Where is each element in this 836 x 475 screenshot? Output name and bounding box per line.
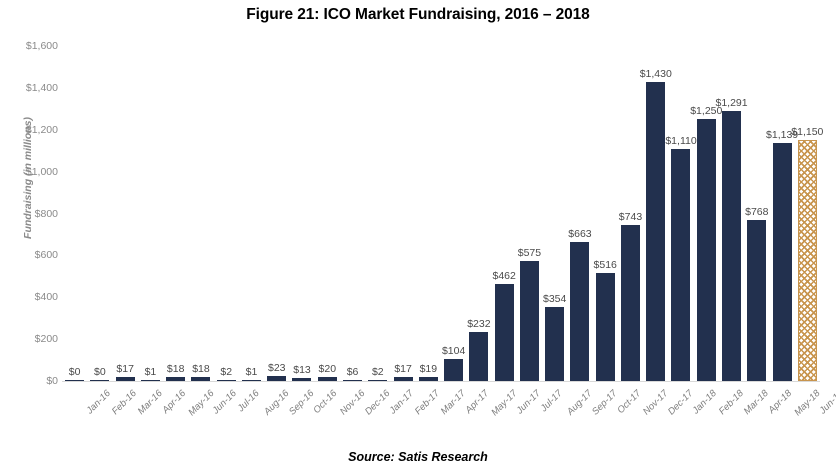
bar-slot: $13 — [289, 46, 314, 381]
bar-slot: $575 — [517, 46, 542, 381]
bar-slot: $1 — [138, 46, 163, 381]
bar[interactable] — [646, 82, 665, 381]
y-axis-tick-label: $600 — [2, 249, 58, 261]
x-axis-tick-label: Mar-17 — [416, 383, 441, 401]
bar[interactable] — [697, 119, 716, 381]
bar-slot: $1 — [239, 46, 264, 381]
x-axis-tick-label: Sep-16 — [264, 383, 289, 401]
bar-slot: $1,150 — [795, 46, 820, 381]
x-axis-tick-label: Jan-17 — [365, 383, 390, 401]
x-axis-tick-labels: Jan-16Feb-16Mar-16Apr-16May-16Jun-16Jul-… — [62, 383, 820, 443]
y-axis-tick-labels: $0$200$400$600$800$1,000$1,200$1,400$1,6… — [0, 0, 58, 475]
bar[interactable] — [495, 284, 514, 381]
bar-value-label: $0 — [69, 366, 81, 378]
bar-slot: $18 — [163, 46, 188, 381]
bar-slot: $19 — [416, 46, 441, 381]
y-axis-tick-label: $0 — [2, 375, 58, 387]
bar-value-label: $18 — [192, 363, 210, 375]
x-axis-tick-label: Dec-17 — [643, 383, 668, 401]
y-axis-tick-label: $1,000 — [2, 166, 58, 178]
bar-value-label: $17 — [394, 363, 412, 375]
x-axis-tick-label: Mar-18 — [719, 383, 744, 401]
y-axis-tick-label: $1,400 — [2, 82, 58, 94]
bar[interactable] — [469, 332, 488, 381]
x-axis-tick-label: Feb-17 — [390, 383, 415, 401]
y-axis-tick-label: $1,200 — [2, 124, 58, 136]
bar-slot: $1,430 — [643, 46, 668, 381]
bar-value-label: $20 — [319, 363, 337, 375]
y-axis-tick-label: $200 — [2, 333, 58, 345]
bar-slot: $18 — [188, 46, 213, 381]
bar-slot: $23 — [264, 46, 289, 381]
bar-value-label: $13 — [293, 364, 311, 376]
source-note: Source: Satis Research — [0, 450, 836, 464]
x-axis-tick-label: Nov-17 — [618, 383, 643, 401]
x-axis-tick-label: Jan-18 — [668, 383, 693, 401]
x-axis-tick-label: Apr-17 — [441, 383, 466, 401]
bar-value-label: $516 — [594, 259, 617, 271]
bar-value-label: $663 — [568, 228, 591, 240]
x-axis-tick-label: Feb-18 — [694, 383, 719, 401]
x-axis-tick-label: Jul-16 — [214, 383, 239, 401]
bar[interactable] — [444, 359, 463, 381]
bar-value-label: $1,110 — [665, 135, 696, 147]
x-axis-tick-label: May-16 — [163, 383, 188, 401]
bar-slot: $17 — [390, 46, 415, 381]
x-axis-tick-label: Mar-16 — [113, 383, 138, 401]
bar-slot: $516 — [593, 46, 618, 381]
bar-value-label: $232 — [467, 318, 490, 330]
y-axis-tick-label: $400 — [2, 291, 58, 303]
bar-slot: $1,110 — [668, 46, 693, 381]
bar-value-label: $2 — [372, 366, 384, 378]
bar-slot: $0 — [87, 46, 112, 381]
bar-slot: $0 — [62, 46, 87, 381]
bar-slot: $20 — [315, 46, 340, 381]
x-axis-tick-label: Apr-16 — [138, 383, 163, 401]
x-axis-tick-label: Feb-16 — [87, 383, 112, 401]
bar-slot: $6 — [340, 46, 365, 381]
bar-slot: $2 — [365, 46, 390, 381]
bar[interactable] — [773, 143, 792, 381]
x-axis-tick-label: Aug-16 — [239, 383, 264, 401]
bar-value-label: $1 — [246, 366, 258, 378]
bar[interactable] — [596, 273, 615, 381]
bar-slot: $104 — [441, 46, 466, 381]
bar-value-label: $1,430 — [640, 68, 672, 80]
bar[interactable] — [570, 242, 589, 381]
x-axis-tick-label: Jun-17 — [492, 383, 517, 401]
bar-slot: $663 — [567, 46, 592, 381]
chart-title: Figure 21: ICO Market Fundraising, 2016 … — [0, 6, 836, 24]
bar-value-label: $1,291 — [715, 97, 747, 109]
bar-value-label: $575 — [518, 247, 541, 259]
bar-value-label: $23 — [268, 362, 286, 374]
x-axis-tick-label: May-18 — [769, 383, 794, 401]
x-axis-tick-label: Jul-17 — [517, 383, 542, 401]
x-axis-tick-label: Aug-17 — [542, 383, 567, 401]
bar-slot: $1,291 — [719, 46, 744, 381]
bar-value-label: $2 — [220, 366, 232, 378]
x-axis-tick-label: Dec-16 — [340, 383, 365, 401]
plot-area: $0$0$17$1$18$18$2$1$23$13$20$6$2$17$19$1… — [62, 46, 820, 381]
x-axis-tick-label: Apr-18 — [744, 383, 769, 401]
bar-slot: $768 — [744, 46, 769, 381]
bar[interactable] — [621, 225, 640, 381]
chart-figure: Figure 21: ICO Market Fundraising, 2016 … — [0, 0, 836, 475]
bar-slot: $462 — [492, 46, 517, 381]
bar[interactable] — [671, 149, 690, 381]
bar-value-label: $1 — [145, 366, 157, 378]
bar-slot: $2 — [214, 46, 239, 381]
bar[interactable] — [520, 261, 539, 381]
y-axis-tick-label: $800 — [2, 208, 58, 220]
x-axis-tick-label: May-17 — [466, 383, 491, 401]
bar-slot: $232 — [466, 46, 491, 381]
bar-value-label: $462 — [492, 270, 515, 282]
bar-value-label: $1,150 — [791, 126, 823, 138]
bar-slot: $17 — [113, 46, 138, 381]
bar-slot: $1,139 — [769, 46, 794, 381]
bar-value-label: $0 — [94, 366, 106, 378]
x-axis-tick-label: Sep-17 — [567, 383, 592, 401]
bar-value-label: $743 — [619, 211, 642, 223]
x-axis-tick-label: Oct-16 — [289, 383, 314, 401]
bar-value-label: $19 — [420, 363, 438, 375]
y-axis-tick-label: $1,600 — [2, 40, 58, 52]
x-axis-tick-label: Jan-16 — [62, 383, 87, 401]
bar[interactable] — [722, 111, 741, 381]
x-axis-tick-label: Oct-17 — [593, 383, 618, 401]
bar-slot: $743 — [618, 46, 643, 381]
bar-value-label: $768 — [745, 206, 768, 218]
bar-value-label: $18 — [167, 363, 185, 375]
bar-slot: $354 — [542, 46, 567, 381]
x-axis-tick-label: Jun-18 — [795, 383, 820, 401]
bar[interactable] — [747, 220, 766, 381]
bar[interactable] — [798, 140, 817, 381]
bar-value-label: $6 — [347, 366, 359, 378]
bar[interactable] — [545, 307, 564, 381]
bar-value-label: $17 — [116, 363, 134, 375]
bar-value-label: $354 — [543, 293, 566, 305]
bar-value-label: $104 — [442, 345, 465, 357]
x-axis-tick-label: Jun-16 — [188, 383, 213, 401]
x-axis-tick-label: Nov-16 — [315, 383, 340, 401]
x-axis-baseline — [62, 381, 820, 382]
